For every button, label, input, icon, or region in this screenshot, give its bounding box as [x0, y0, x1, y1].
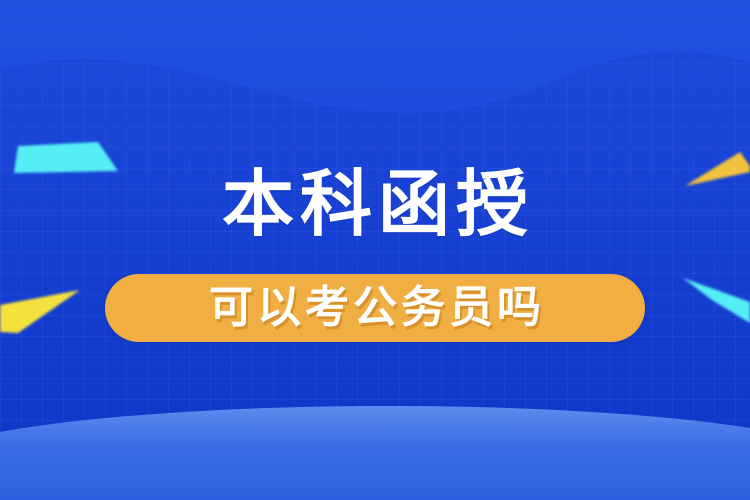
promo-banner: 本科函授 可以考公务员吗	[0, 0, 750, 500]
headline-title: 本科函授	[216, 163, 534, 247]
subtitle-pill: 可以考公务员吗	[105, 274, 645, 342]
subtitle-pill-label: 可以考公务员吗	[205, 282, 545, 334]
banner-content: 本科函授 可以考公务员吗	[0, 0, 750, 500]
